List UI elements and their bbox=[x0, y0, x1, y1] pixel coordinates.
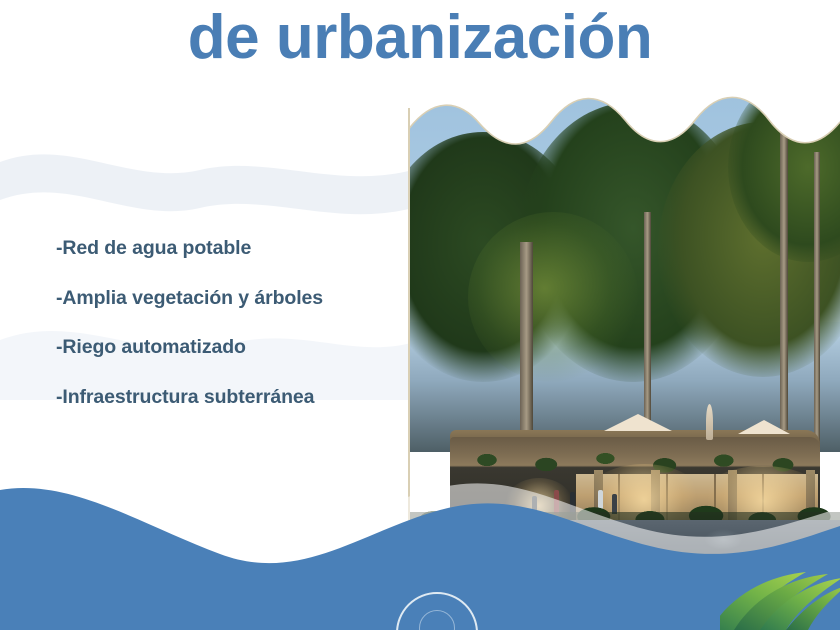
feature-item-4: -Infraestructura subterránea bbox=[56, 387, 401, 407]
photo-image bbox=[408, 92, 840, 630]
feature-item-2: -Amplia vegetación y árboles bbox=[56, 288, 401, 308]
water-light-reflection-3 bbox=[684, 604, 720, 610]
water-light-reflection-1 bbox=[464, 590, 498, 596]
rock-texture bbox=[408, 520, 840, 590]
poster-title: Obras de red de urbanización bbox=[0, 0, 840, 70]
tree-canopy-foliage-highlight bbox=[468, 212, 638, 382]
project-photo bbox=[408, 92, 840, 630]
panel-left-outline bbox=[408, 108, 410, 568]
patio-umbrella-closed bbox=[706, 404, 713, 440]
feature-item-1: -Red de agua potable bbox=[56, 238, 401, 258]
feature-list: -Red de agua potable -Amplia vegetación … bbox=[56, 238, 401, 407]
title-line-2: de urbanización bbox=[0, 6, 840, 70]
patio-umbrella-2 bbox=[738, 420, 790, 434]
poster-canvas: Obras de red de urbanización -Red de agu… bbox=[0, 0, 840, 630]
feature-item-3: -Riego automatizado bbox=[56, 337, 401, 357]
brand-logo-inner-ring bbox=[419, 610, 455, 630]
patio-umbrella-1 bbox=[604, 414, 672, 431]
water-light-reflection-2 bbox=[642, 598, 672, 603]
